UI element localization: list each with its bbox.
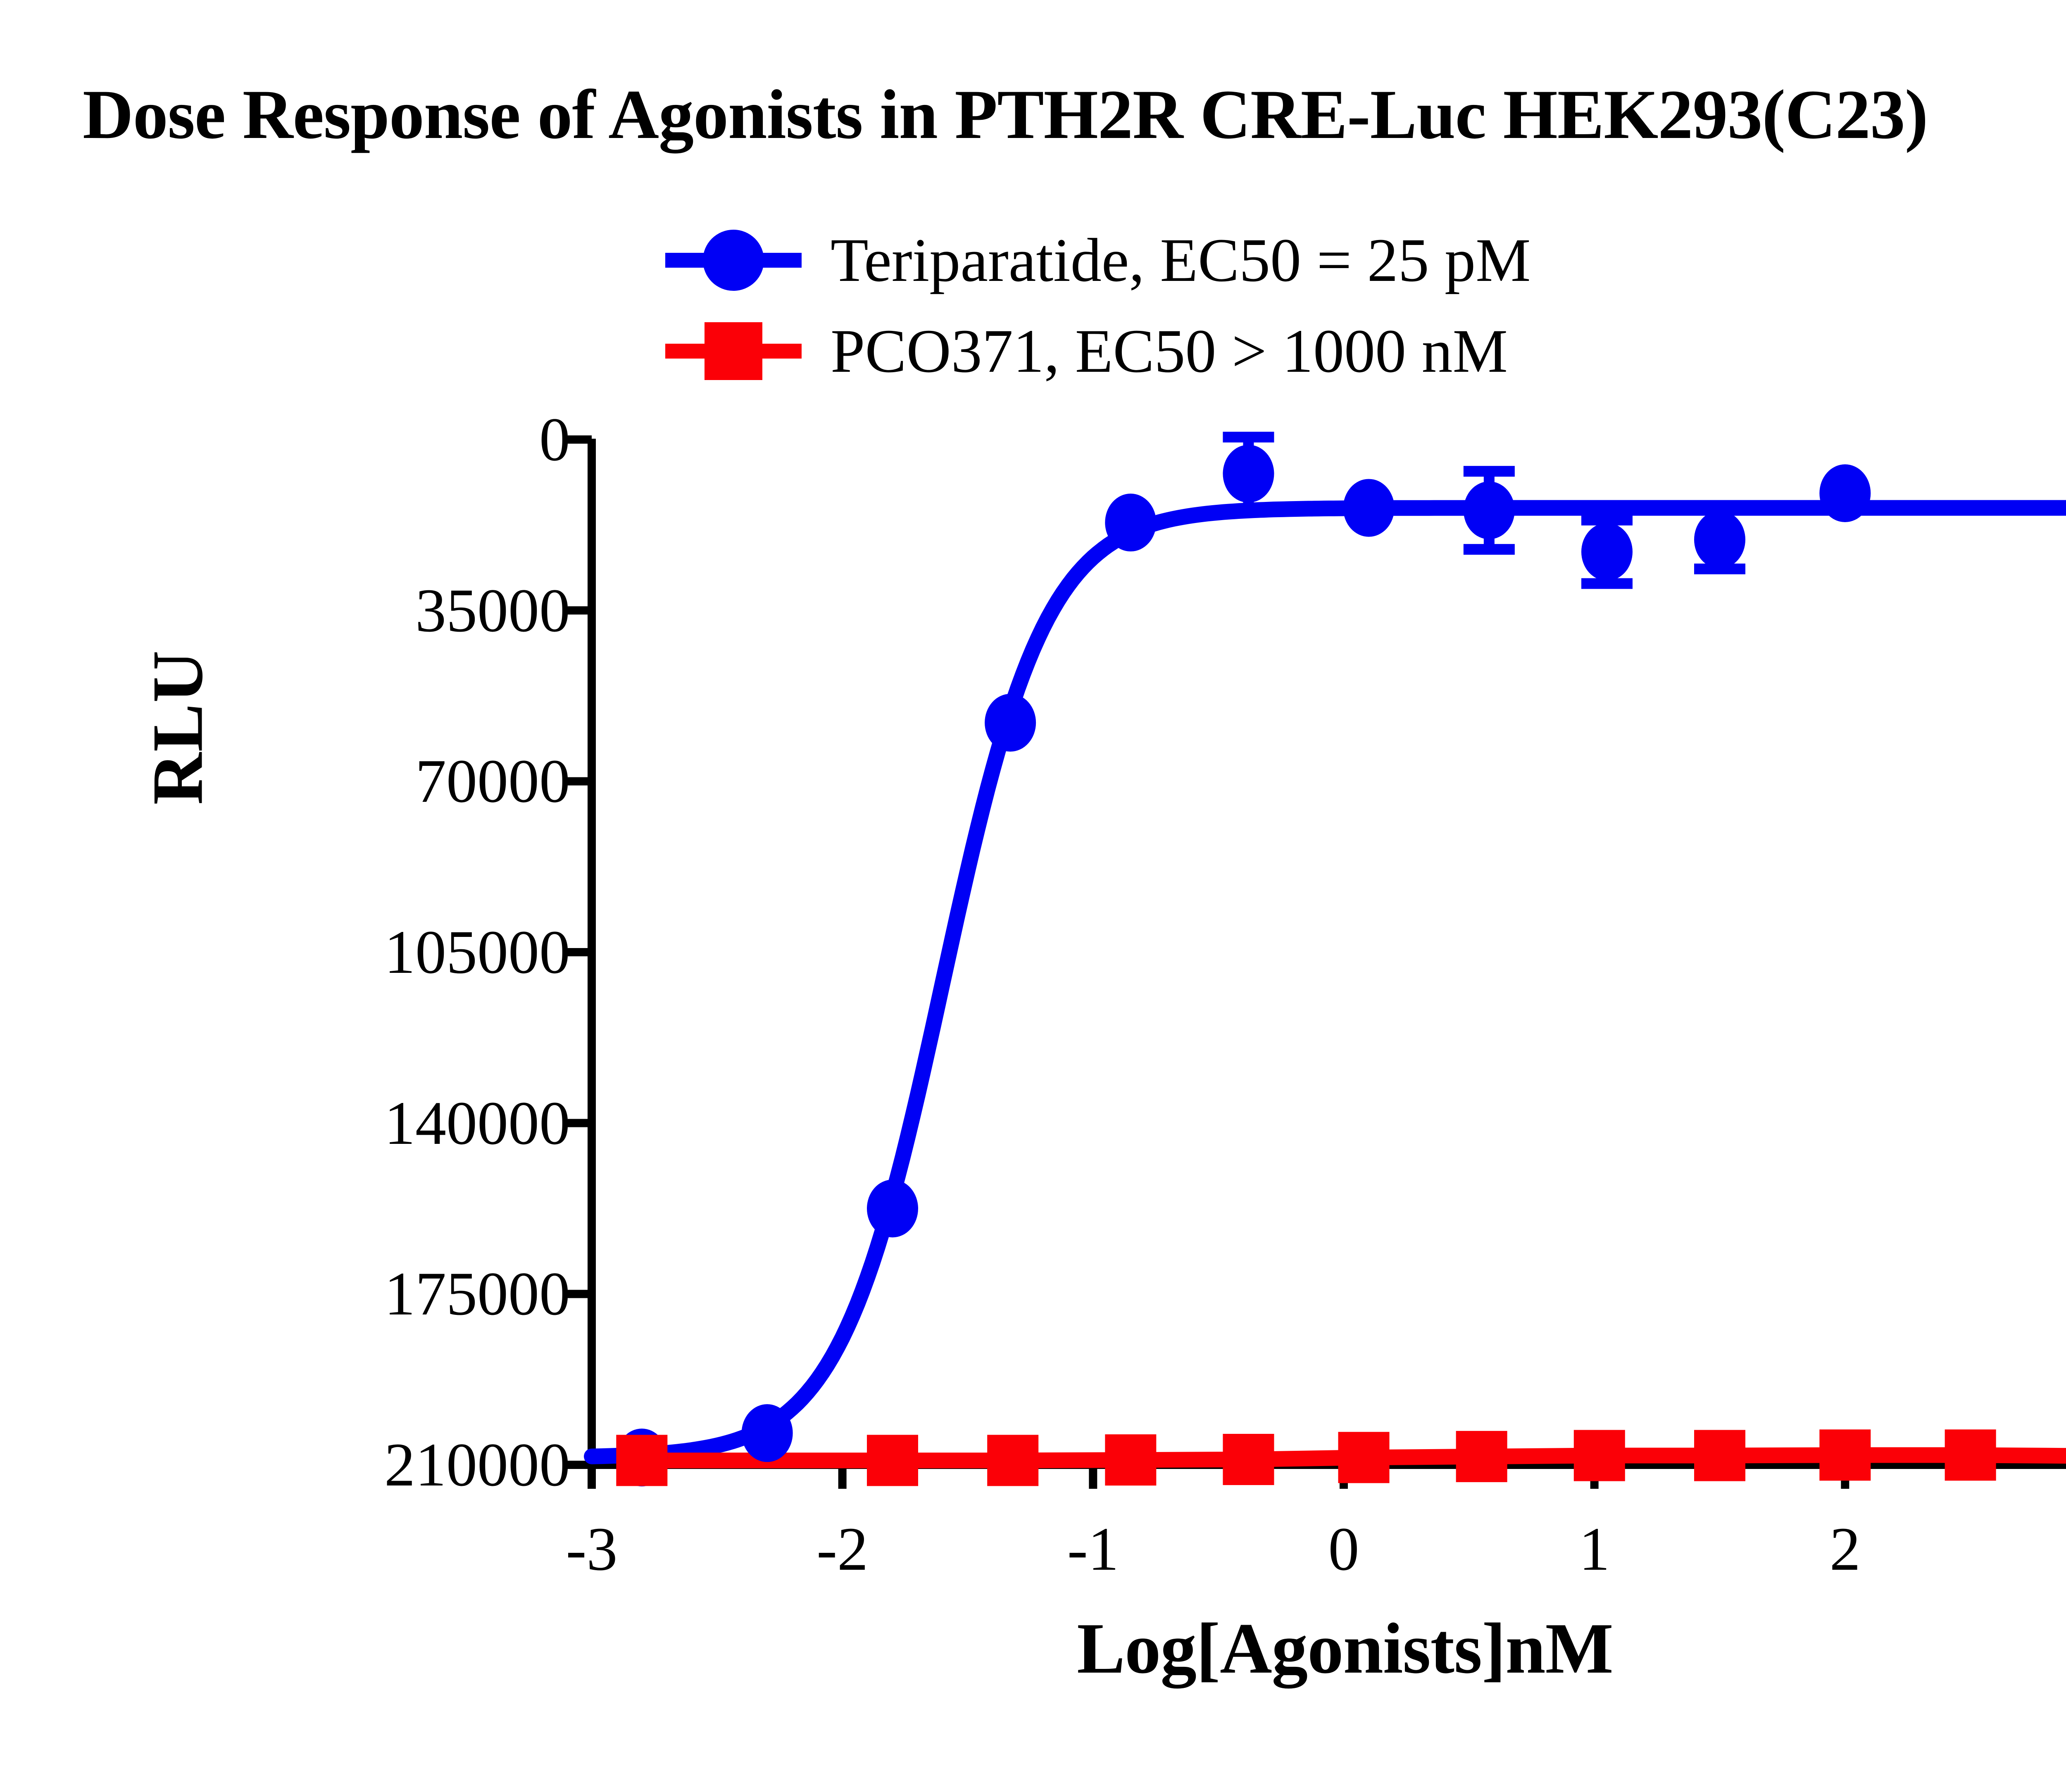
data-point-teriparatide[interactable]: [1105, 494, 1156, 551]
data-point-pco371[interactable]: [867, 1435, 918, 1486]
data-point-teriparatide[interactable]: [1694, 511, 1745, 568]
data-point-pco371[interactable]: [1694, 1430, 1745, 1481]
data-point-pco371[interactable]: [1105, 1434, 1156, 1485]
data-point-pco371[interactable]: [616, 1435, 667, 1486]
data-point-pco371[interactable]: [1819, 1429, 1871, 1481]
data-point-teriparatide[interactable]: [742, 1404, 793, 1462]
data-point-pco371[interactable]: [1945, 1429, 1996, 1481]
data-point-pco371[interactable]: [1223, 1434, 1274, 1485]
data-point-pco371[interactable]: [1338, 1432, 1390, 1483]
data-point-teriparatide[interactable]: [867, 1180, 918, 1238]
data-point-teriparatide[interactable]: [1819, 464, 1871, 522]
series-line-teriparatide: [592, 508, 2066, 1457]
data-point-pco371[interactable]: [987, 1435, 1038, 1486]
plot-area: [0, 0, 2066, 1792]
data-point-teriparatide[interactable]: [985, 694, 1036, 752]
data-point-teriparatide[interactable]: [1343, 479, 1395, 537]
data-point-teriparatide[interactable]: [1581, 523, 1633, 581]
data-point-teriparatide[interactable]: [1464, 481, 1515, 539]
data-point-pco371[interactable]: [1574, 1430, 1625, 1481]
data-point-teriparatide[interactable]: [1223, 445, 1274, 503]
data-point-pco371[interactable]: [1456, 1431, 1507, 1482]
chart-canvas: Dose Response of Agonists in PTH2R CRE-L…: [0, 0, 2066, 1792]
